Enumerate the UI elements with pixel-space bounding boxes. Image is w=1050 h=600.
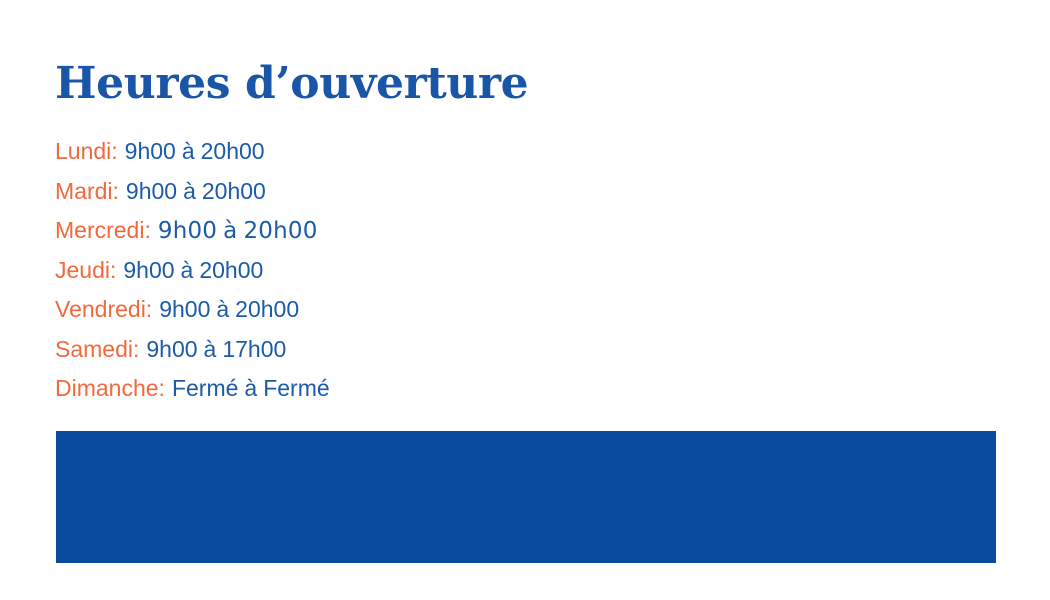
list-item: Samedi:9h00à17h00	[55, 330, 955, 370]
day-label: Vendredi:	[55, 296, 152, 322]
day-label: Mercredi:	[55, 217, 151, 243]
day-label: Dimanche:	[55, 375, 165, 401]
page-title: Heures d’ouverture	[55, 58, 528, 110]
time-range: 9h00à17h00	[146, 336, 286, 362]
time-open: 9h00	[159, 296, 210, 322]
list-item: Mercredi:9h00à20h00	[55, 211, 955, 251]
time-range: 9h00à20h00	[125, 138, 265, 164]
time-open: 9h00	[158, 218, 217, 244]
list-item: Dimanche:FerméàFermé	[55, 369, 955, 409]
time-close: 20h00	[201, 138, 265, 164]
time-close: 17h00	[222, 336, 286, 362]
time-close: Fermé	[263, 375, 329, 401]
day-label: Lundi:	[55, 138, 118, 164]
time-separator: à	[198, 336, 223, 362]
page-root: Heures d’ouverture Lundi:9h00à20h00 Mard…	[0, 0, 1050, 600]
time-close: 20h00	[235, 296, 299, 322]
list-item: Vendredi:9h00à20h00	[55, 290, 955, 330]
time-open: Fermé	[172, 375, 238, 401]
time-separator: à	[217, 218, 243, 244]
time-range: 9h00à20h00	[159, 296, 299, 322]
day-label: Jeudi:	[55, 257, 116, 283]
list-item: Mardi:9h00à20h00	[55, 172, 955, 212]
time-close: 20h00	[202, 178, 266, 204]
list-item: Jeudi:9h00à20h00	[55, 251, 955, 291]
time-separator: à	[177, 178, 202, 204]
time-range: FerméàFermé	[172, 375, 330, 401]
day-label: Samedi:	[55, 336, 139, 362]
banner-block	[56, 431, 996, 563]
opening-hours-list: Lundi:9h00à20h00 Mardi:9h00à20h00 Mercre…	[55, 132, 955, 409]
time-range: 9h00à20h00	[123, 257, 263, 283]
time-open: 9h00	[126, 178, 177, 204]
time-open: 9h00	[146, 336, 197, 362]
list-item: Lundi:9h00à20h00	[55, 132, 955, 172]
time-close: 20h00	[243, 218, 317, 244]
time-open: 9h00	[123, 257, 174, 283]
time-range: 9h00à20h00	[126, 178, 266, 204]
time-open: 9h00	[125, 138, 176, 164]
time-separator: à	[238, 375, 263, 401]
time-separator: à	[210, 296, 235, 322]
time-separator: à	[175, 257, 200, 283]
time-close: 20h00	[199, 257, 263, 283]
day-label: Mardi:	[55, 178, 119, 204]
time-range: 9h00à20h00	[158, 218, 318, 244]
time-separator: à	[176, 138, 201, 164]
